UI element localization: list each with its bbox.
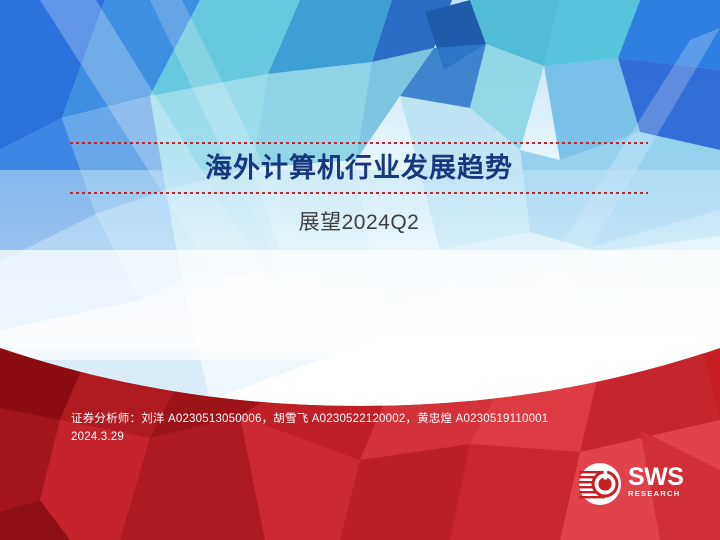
logo-wordmark: SWS	[628, 464, 694, 490]
logo-tagline: RESEARCH	[628, 489, 694, 498]
page-title: 海外计算机行业发展趋势	[70, 142, 648, 194]
logo-wordmark-group: SWS RESEARCH	[628, 464, 694, 498]
publication-date: 2024.3.29	[71, 428, 671, 446]
dotted-rule-bottom	[70, 192, 648, 194]
sws-circle-stripes-mark	[578, 462, 622, 506]
page-subtitle: 展望2024Q2	[70, 206, 648, 236]
sws-research-logo: SWS RESEARCH	[578, 462, 693, 506]
analyst-names-line: 证券分析师：刘洋 A0230513050006，胡雪飞 A02305221200…	[71, 410, 671, 428]
slide-background-artwork	[0, 0, 720, 540]
presentation-slide: 海外计算机行业发展趋势 展望2024Q2 证券分析师：刘洋 A023051305…	[0, 0, 720, 540]
analyst-credits: 证券分析师：刘洋 A0230513050006，胡雪飞 A02305221200…	[71, 410, 671, 446]
title-band: 海外计算机行业发展趋势	[70, 142, 648, 194]
